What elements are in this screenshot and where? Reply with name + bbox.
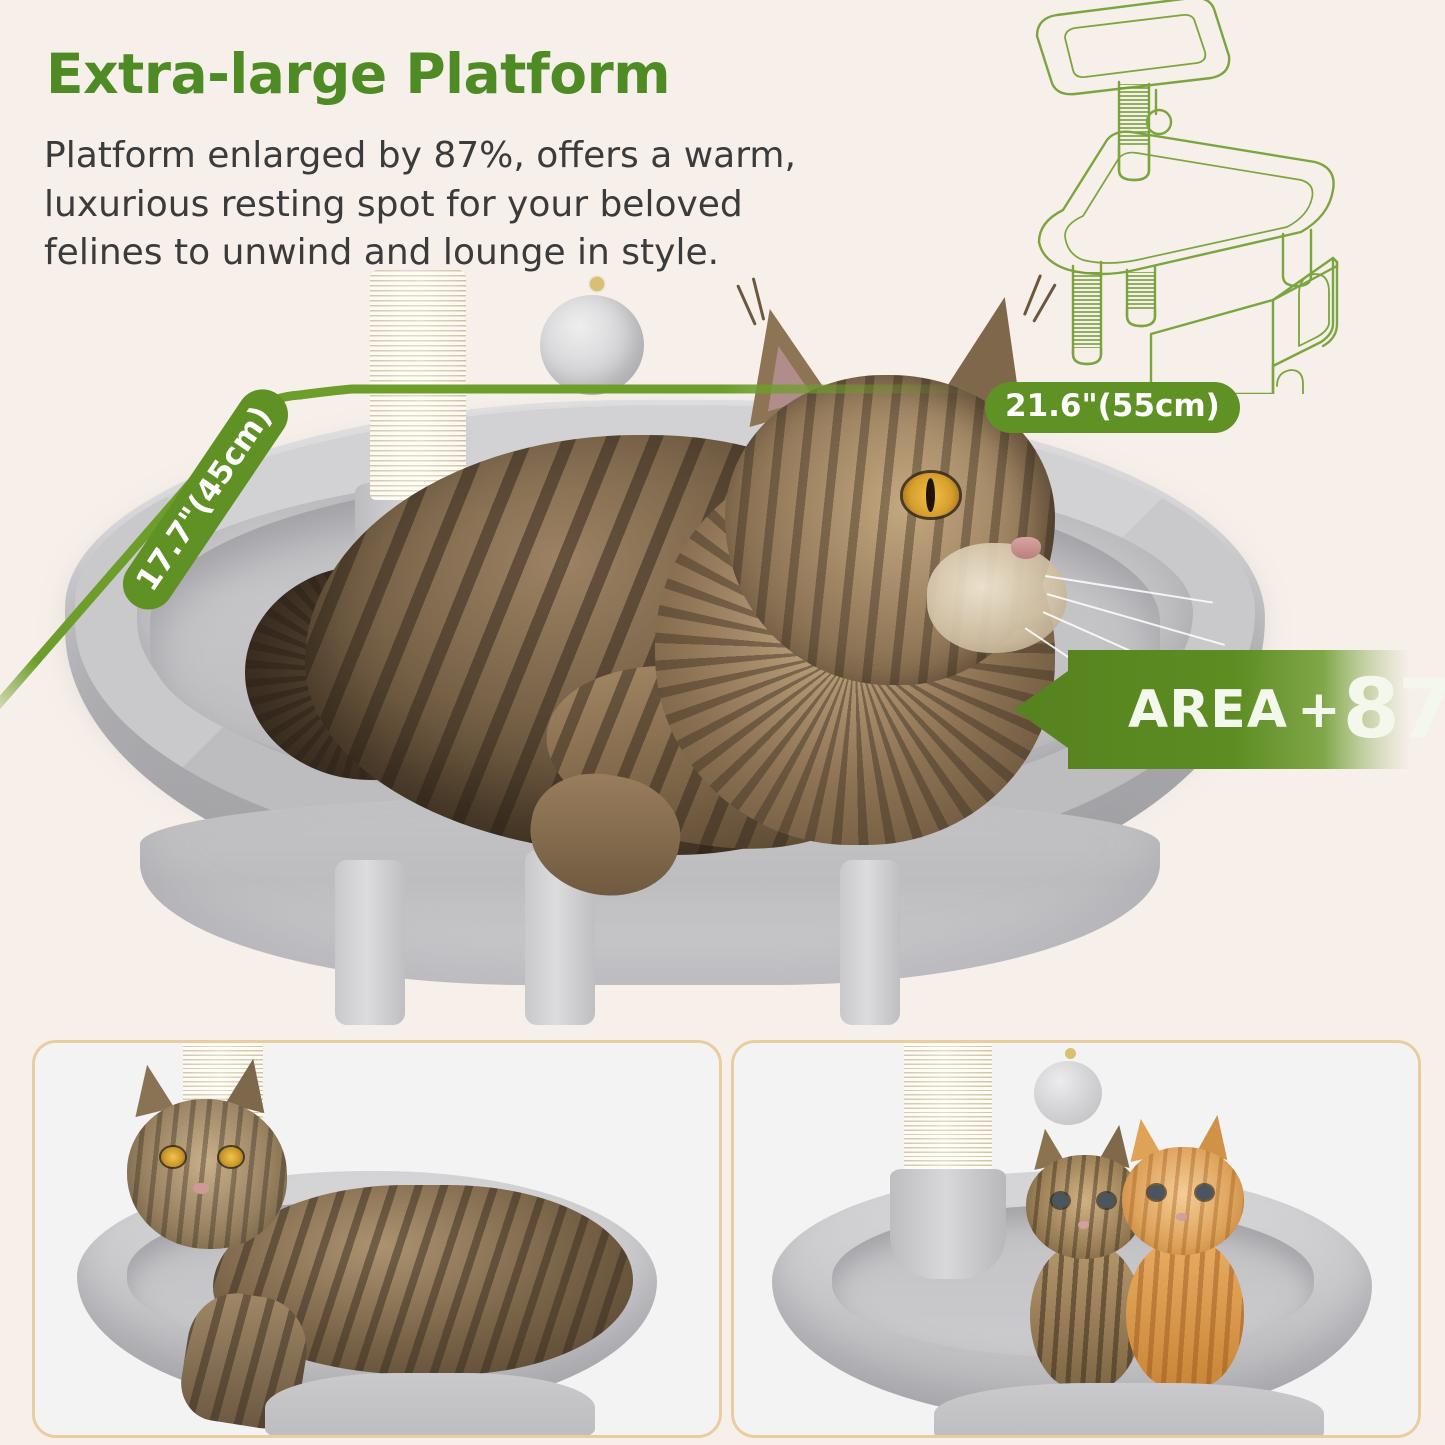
kitten-eye: [1196, 1185, 1213, 1200]
product-feature-page: Extra-large Platform Platform enlarged b…: [0, 0, 1445, 1445]
width-dimension-label: 21.6"(55cm): [985, 382, 1240, 433]
thumb-two-kittens[interactable]: [731, 1040, 1421, 1438]
kitten-nose: [1078, 1221, 1089, 1229]
kitten-eye: [1052, 1193, 1069, 1208]
description-line-2: luxurious resting spot for your beloved: [44, 181, 964, 230]
kitten-nose: [1176, 1213, 1187, 1221]
maine-coon-cat: [185, 275, 1185, 915]
area-plus-sign: +: [1297, 680, 1341, 740]
cat-muzzle: [927, 543, 1067, 653]
sisal-post-base: [890, 1169, 1006, 1279]
area-label: AREA: [1128, 680, 1288, 740]
cat-nose: [193, 1183, 209, 1194]
cat-eye: [219, 1147, 243, 1167]
cat-tree-base: [265, 1373, 595, 1438]
cat-nose: [1011, 537, 1041, 559]
cat-head: [127, 1099, 287, 1249]
kitten-head: [1122, 1147, 1244, 1255]
area-badge-text: AREA + 87 %: [1128, 642, 1398, 777]
thumb-cat-lounging[interactable]: [32, 1040, 722, 1438]
area-value: 87: [1343, 673, 1445, 747]
kitten-eye: [1098, 1193, 1115, 1208]
cat-tree-base: [934, 1383, 1324, 1438]
area-increase-badge: AREA + 87 %: [1010, 642, 1410, 777]
description-line-1: Platform enlarged by 87%, offers a warm,: [44, 132, 964, 181]
hanging-pompom-ball: [1034, 1061, 1102, 1125]
kitten-body: [1126, 1239, 1244, 1389]
kitten-eye: [1148, 1185, 1165, 1200]
cat-eye: [903, 473, 959, 517]
cat-eye: [161, 1147, 185, 1167]
page-title: Extra-large Platform: [46, 42, 670, 106]
thumbnail-row: [0, 1040, 1445, 1445]
